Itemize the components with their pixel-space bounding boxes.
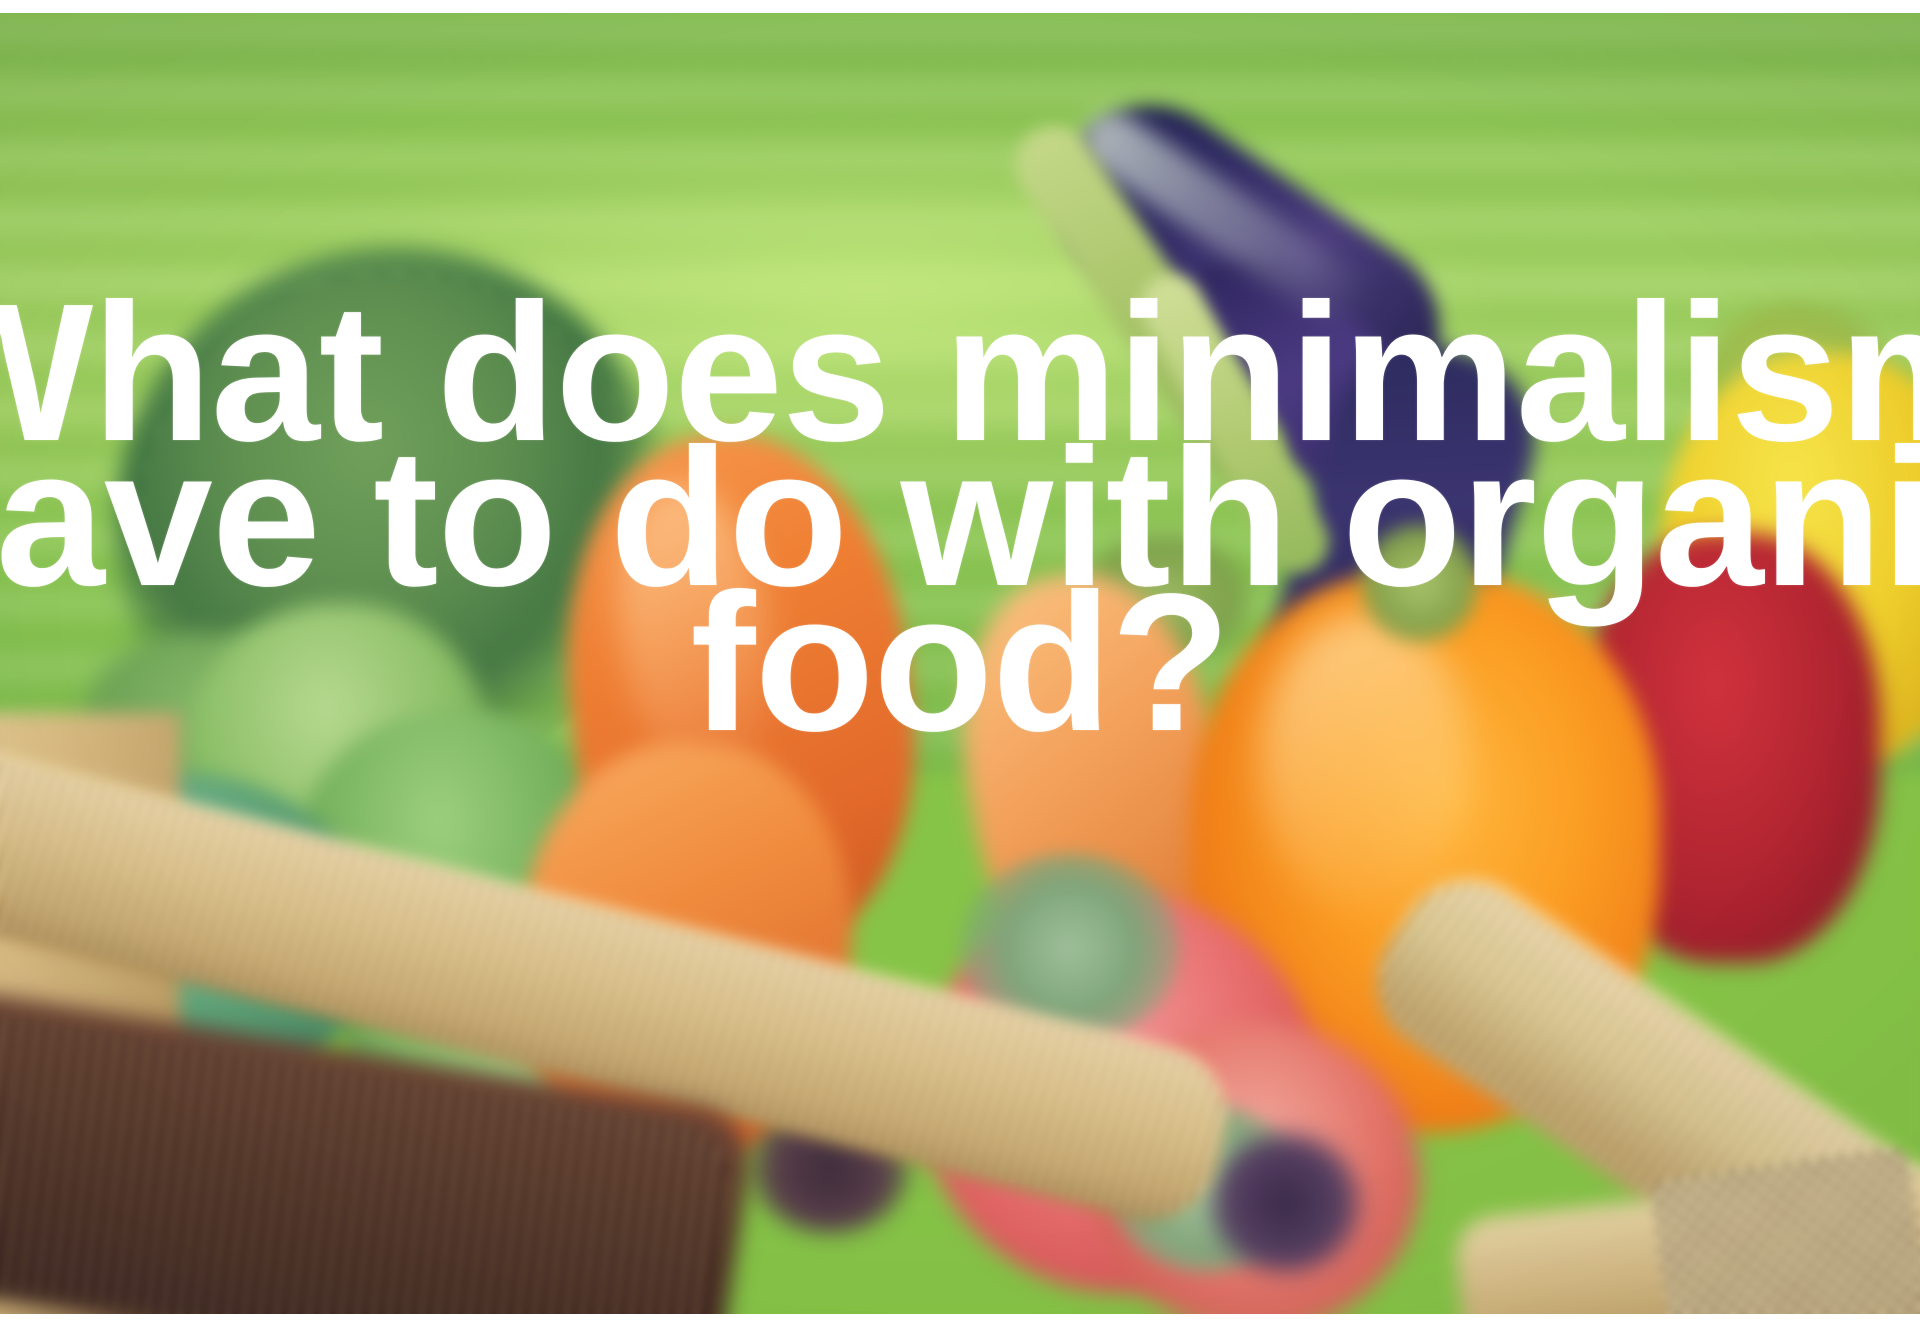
top-white-strip bbox=[0, 0, 1920, 13]
bottom-white-strip bbox=[0, 1314, 1920, 1332]
orange-bell-pepper-stem bbox=[1360, 523, 1480, 643]
orange-bell-pepper-highlight bbox=[1260, 613, 1470, 913]
shadow-blob-2 bbox=[1210, 1133, 1360, 1273]
article-hero-banner: What does minimalism have to do with org… bbox=[0, 0, 1920, 1332]
background-photo bbox=[0, 13, 1920, 1314]
